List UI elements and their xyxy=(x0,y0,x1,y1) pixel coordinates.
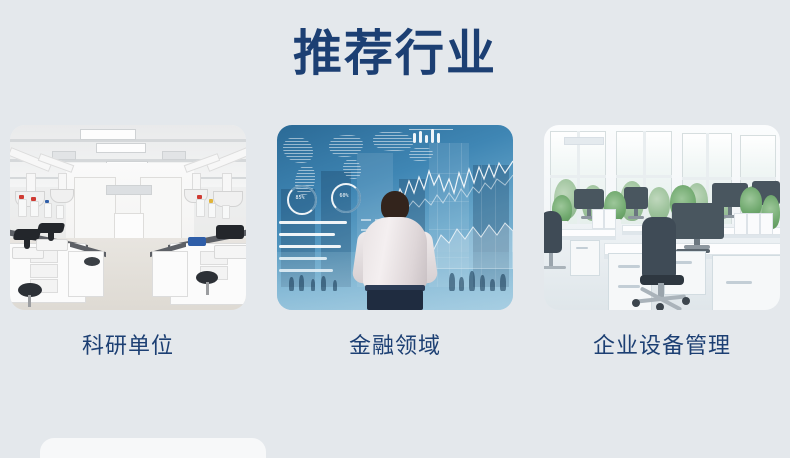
file-box xyxy=(760,213,773,235)
cabinet-handle xyxy=(576,247,588,249)
office-chair-back xyxy=(544,211,562,253)
monitor-stand xyxy=(587,209,591,216)
microscope-arm xyxy=(48,230,54,241)
chair-wheel xyxy=(656,303,664,310)
ceiling-duct xyxy=(564,137,604,145)
mini-bar xyxy=(431,129,434,143)
reagent-bottle xyxy=(18,199,27,217)
cabinet-handle xyxy=(726,281,752,284)
reagent-bottle xyxy=(56,205,64,219)
bench-cabinet-right xyxy=(152,251,188,297)
mini-bar xyxy=(413,133,416,143)
ceiling-light xyxy=(96,143,146,153)
monitor xyxy=(574,189,604,209)
bar-line xyxy=(279,221,347,224)
monitor xyxy=(624,187,648,209)
bottle-cap xyxy=(31,197,36,201)
lab-instrument-blue xyxy=(188,237,206,246)
industry-card-list: 科研单位 xyxy=(10,125,780,360)
bottle-cap xyxy=(45,200,49,203)
laboratory-scene xyxy=(10,125,246,310)
mini-bar xyxy=(419,131,422,143)
reagent-bottle xyxy=(30,201,39,217)
chair-post xyxy=(549,253,553,267)
gauge-value-label: 85% xyxy=(287,195,313,201)
world-map xyxy=(373,131,413,151)
file-box xyxy=(592,209,604,229)
bottle-cap xyxy=(197,195,202,199)
chair-legs xyxy=(544,266,566,269)
window-mullion xyxy=(550,175,606,178)
window-mullion xyxy=(577,131,580,233)
bar-line xyxy=(279,233,335,236)
microscope-arm xyxy=(24,237,30,249)
monitor-stand xyxy=(634,209,638,216)
window-mullion xyxy=(682,177,732,180)
mini-bar xyxy=(437,133,440,143)
monitor-base xyxy=(628,216,644,219)
chair-wheel xyxy=(682,297,690,305)
reagent-bottle xyxy=(44,203,52,218)
reagent-bottle xyxy=(208,203,216,218)
ceiling-light xyxy=(80,129,136,140)
data-row xyxy=(361,219,371,221)
crowd-figure xyxy=(500,274,506,291)
industry-card-finance[interactable]: 85% 60% xyxy=(277,125,513,360)
industry-caption-research: 科研单位 xyxy=(82,334,174,360)
outdoor-tree xyxy=(648,187,670,221)
crowd-figure xyxy=(469,271,475,291)
businessman-shirt xyxy=(363,217,427,289)
industry-caption-enterprise: 企业设备管理 xyxy=(593,334,731,360)
monitor-stand xyxy=(728,207,732,215)
industry-card-enterprise[interactable]: 企业设备管理 xyxy=(544,125,780,360)
office-photo[interactable] xyxy=(544,125,780,310)
mini-bar xyxy=(425,135,428,143)
file-box xyxy=(604,209,616,229)
chair-wheel xyxy=(632,299,640,307)
lab-instrument-base xyxy=(214,245,246,259)
pedestal-cabinet xyxy=(570,240,600,276)
cabinet-handle xyxy=(618,285,640,288)
office-chair-foreground xyxy=(642,217,676,279)
industry-caption-finance: 金融领域 xyxy=(349,334,441,360)
fume-hood-bell xyxy=(50,189,74,203)
crowd-figure xyxy=(449,273,455,291)
reagent-bottle xyxy=(196,199,205,217)
bar-line xyxy=(279,245,341,248)
window-mullion xyxy=(616,175,672,178)
cabinet-handle xyxy=(618,265,640,268)
crowd-figure xyxy=(311,279,315,291)
bottle-cap xyxy=(19,195,24,199)
next-section-card-peek[interactable] xyxy=(40,438,266,458)
ceiling-vent xyxy=(162,151,186,160)
page-title: 推荐行业 xyxy=(0,26,790,82)
crowd-figure xyxy=(459,277,464,291)
stool-leg xyxy=(206,282,209,295)
crowd-figure xyxy=(490,279,495,291)
reagent-bottle xyxy=(222,205,230,219)
bottle-cap xyxy=(209,199,213,203)
drawer xyxy=(30,264,58,278)
window-mullion xyxy=(740,177,776,180)
industry-card-research[interactable]: 科研单位 xyxy=(10,125,246,360)
crowd-figure xyxy=(480,275,485,291)
wall-sign xyxy=(106,185,152,195)
window-mullion xyxy=(643,131,646,229)
lab-stool xyxy=(84,257,100,266)
crowd-figure xyxy=(333,280,337,291)
businessman-jeans xyxy=(367,290,423,310)
office-scene xyxy=(544,125,780,310)
stool-leg xyxy=(28,295,31,307)
finance-scene: 85% 60% xyxy=(277,125,513,310)
gauge-value-label: 60% xyxy=(331,193,357,199)
finance-photo[interactable]: 85% 60% xyxy=(277,125,513,310)
world-map xyxy=(283,137,313,163)
laboratory-photo[interactable] xyxy=(10,125,246,310)
file-box xyxy=(734,213,747,235)
file-box xyxy=(747,213,760,235)
crowd-figure xyxy=(321,276,326,291)
crowd-figure xyxy=(299,275,304,291)
world-map xyxy=(343,159,361,179)
stock-line-chart xyxy=(395,159,513,217)
monitor-foreground xyxy=(672,203,724,239)
lab-instrument xyxy=(216,225,244,239)
crowd-figure xyxy=(289,277,294,291)
